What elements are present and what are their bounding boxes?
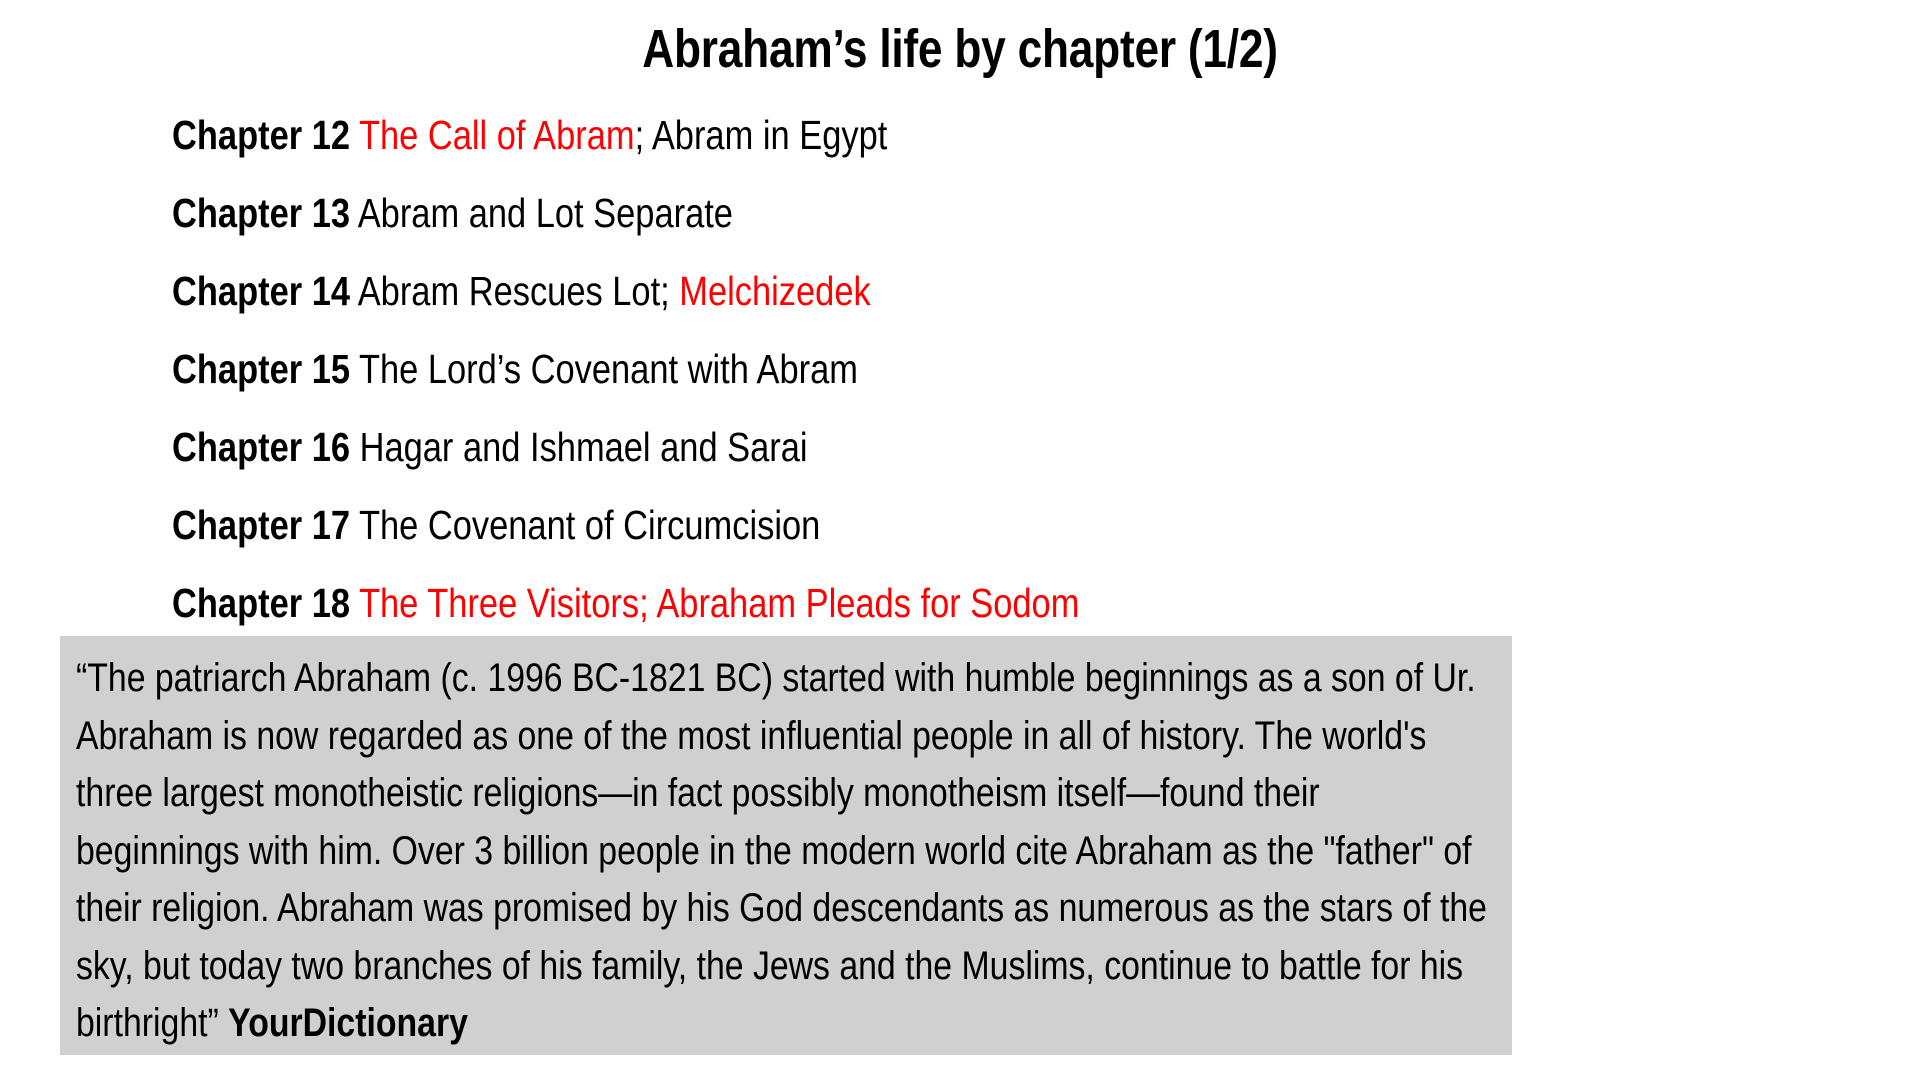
chapter-title-text: The Lord’s Covenant with Abram: [359, 346, 858, 392]
chapter-title-text: Hagar and Ishmael and Sarai: [360, 424, 808, 470]
presentation-slide: Abraham’s life by chapter (1/2) Chapter …: [0, 0, 1920, 1080]
chapter-title-text: Abram and Lot Separate: [358, 190, 733, 236]
chapter-title-text: ; Abram in Egypt: [635, 112, 888, 158]
chapter-line: Chapter 13 Abram and Lot Separate: [172, 174, 1600, 252]
quote-source: YourDictionary: [228, 1001, 468, 1045]
chapter-label: Chapter 15: [172, 346, 350, 392]
page-title: Abraham’s life by chapter (1/2): [173, 18, 1747, 80]
quote-text: “The patriarch Abraham (c. 1996 BC-1821 …: [76, 650, 1492, 1053]
chapter-label: Chapter 13: [172, 190, 350, 236]
chapter-title-highlight: Melchizedek: [679, 268, 870, 314]
chapter-line: Chapter 17 The Covenant of Circumcision: [172, 486, 1600, 564]
chapter-title-text: The Covenant of Circumcision: [359, 502, 820, 548]
chapter-title-text: Abram Rescues Lot;: [358, 268, 680, 314]
chapter-label: Chapter 17: [172, 502, 350, 548]
chapter-line: Chapter 14 Abram Rescues Lot; Melchizede…: [172, 252, 1600, 330]
chapter-label: Chapter 18: [172, 580, 350, 626]
chapter-label: Chapter 14: [172, 268, 350, 314]
chapter-list: Chapter 12 The Call of Abram; Abram in E…: [172, 96, 1872, 642]
chapter-line: Chapter 18 The Three Visitors; Abraham P…: [172, 564, 1600, 642]
chapter-title-highlight: The Call of Abram: [359, 112, 635, 158]
chapter-label: Chapter 16: [172, 424, 350, 470]
quote-body: “The patriarch Abraham (c. 1996 BC-1821 …: [76, 656, 1487, 1045]
chapter-title-highlight: The Three Visitors; Abraham Pleads for S…: [359, 580, 1079, 626]
chapter-label: Chapter 12: [172, 112, 350, 158]
quote-callout-box: “The patriarch Abraham (c. 1996 BC-1821 …: [60, 636, 1512, 1055]
chapter-line: Chapter 12 The Call of Abram; Abram in E…: [172, 96, 1600, 174]
chapter-line: Chapter 15 The Lord’s Covenant with Abra…: [172, 330, 1600, 408]
chapter-line: Chapter 16 Hagar and Ishmael and Sarai: [172, 408, 1600, 486]
